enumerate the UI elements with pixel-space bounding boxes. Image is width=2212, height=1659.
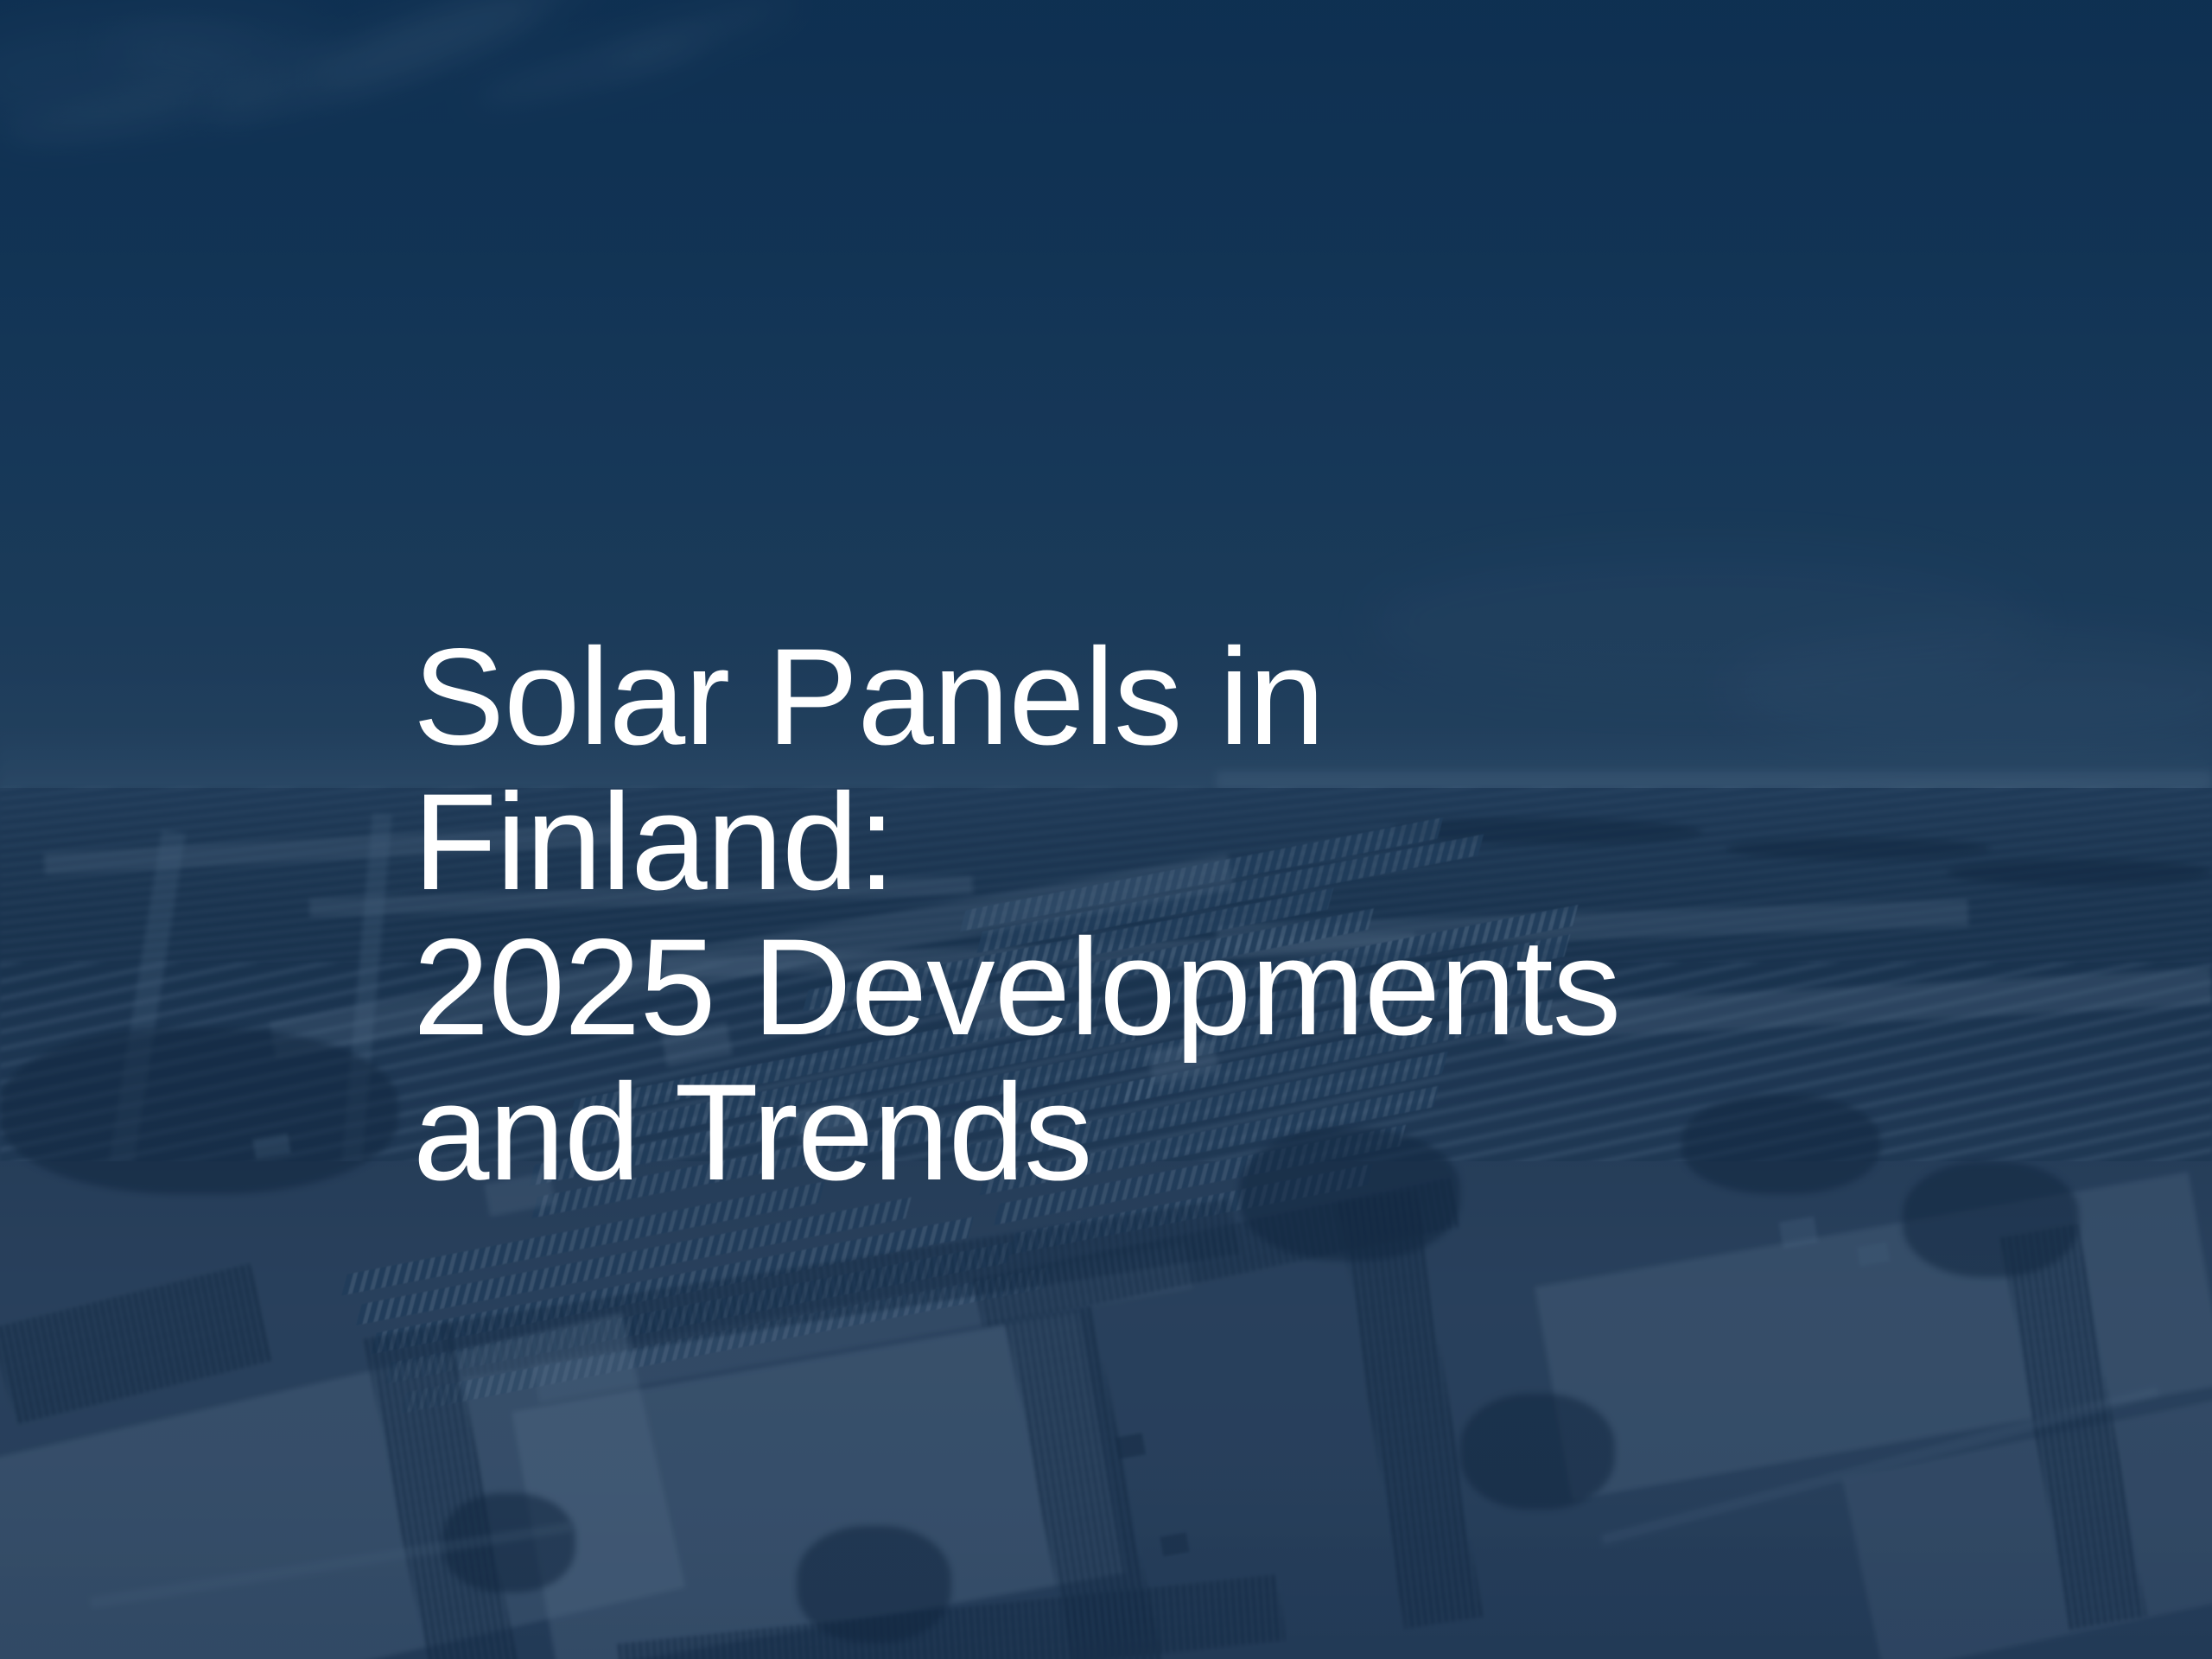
page-title: Solar Panels in Finland: 2025 Developmen…	[413, 624, 1709, 1205]
hero-title-container: Solar Panels in Finland: 2025 Developmen…	[413, 624, 1709, 1205]
hero-banner: Solar Panels in Finland: 2025 Developmen…	[0, 0, 2212, 1659]
